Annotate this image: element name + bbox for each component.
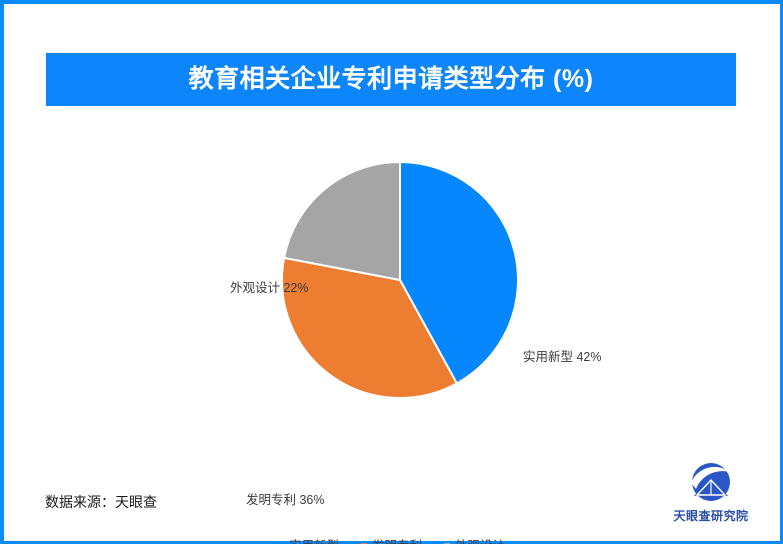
pie-chart: 外观设计 22% 实用新型 42% 发明专利 36% 实用新型 发明专利 外观设…: [0, 110, 783, 460]
legend-label-utility: 实用新型: [289, 540, 339, 544]
slide-canvas: 教育相关企业专利申请类型分布 (%) 外观设计 22% 实用新型 42% 发明专…: [0, 0, 783, 544]
legend-label-design: 外观设计: [455, 540, 505, 544]
legend-item-invention[interactable]: 发明专利: [361, 540, 422, 544]
legend-item-design[interactable]: 外观设计: [444, 540, 505, 544]
tianyancha-logo: 天眼查研究院: [663, 463, 759, 525]
slide-border-top: [0, 0, 783, 4]
legend-label-invention: 发明专利: [372, 540, 422, 544]
page-title: 教育相关企业专利申请类型分布 (%): [189, 67, 594, 92]
chart-legend: 实用新型 发明专利 外观设计: [0, 540, 783, 544]
source-note: 数据来源：天眼查: [45, 492, 157, 512]
title-banner: 教育相关企业专利申请类型分布 (%): [46, 53, 736, 106]
tianyancha-logo-icon: [688, 463, 734, 505]
pie-label-design: 外观设计 22%: [230, 282, 309, 295]
pie-label-utility: 实用新型 42%: [523, 351, 602, 364]
pie-label-invention: 发明专利 36%: [246, 494, 325, 507]
legend-item-utility[interactable]: 实用新型: [278, 540, 339, 544]
logo-label: 天眼查研究院: [673, 507, 748, 524]
pie-chart-svg: [0, 110, 783, 460]
